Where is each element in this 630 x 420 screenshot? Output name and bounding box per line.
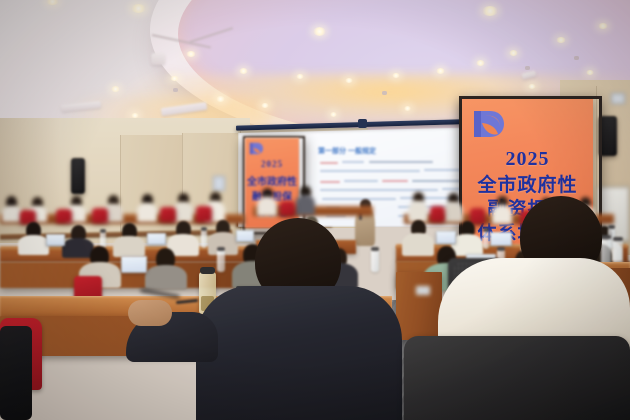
slide-text-line xyxy=(320,170,420,172)
downlight xyxy=(111,86,120,92)
laptop[interactable] xyxy=(46,234,65,246)
wall-sign-plate xyxy=(213,176,225,191)
slide-text-line xyxy=(382,180,408,182)
downlight xyxy=(436,68,445,74)
downlight xyxy=(313,27,326,36)
downlight xyxy=(392,73,400,78)
conference-room-photo: 第一部分 一般规定 2025 全市政府性 融资担保 体系培训班 xyxy=(0,0,630,420)
laptop[interactable] xyxy=(121,256,147,273)
attendee-body xyxy=(492,205,512,224)
downlight xyxy=(345,78,353,83)
water-bottle xyxy=(371,250,379,272)
downlight xyxy=(509,50,518,56)
downlight xyxy=(170,76,179,81)
downlight xyxy=(404,106,411,111)
attendee-body xyxy=(257,197,277,216)
downlight xyxy=(528,84,536,89)
slide-text-line xyxy=(344,180,378,182)
sprinkler-head xyxy=(173,88,178,92)
desk-front-panel xyxy=(396,272,442,340)
attendee-body xyxy=(18,235,49,255)
tea-jar-lid xyxy=(200,267,215,274)
laptop[interactable] xyxy=(490,232,512,246)
sprinkler-head xyxy=(574,56,579,60)
attendee-body xyxy=(295,195,315,215)
downlight xyxy=(131,4,146,13)
downlight xyxy=(330,112,337,117)
laptop[interactable] xyxy=(147,233,166,245)
audience-chair xyxy=(160,207,176,222)
slide-text-line xyxy=(320,189,438,191)
audience-chair xyxy=(196,206,212,222)
slide-text-line xyxy=(342,161,364,163)
attendee-body xyxy=(113,236,145,257)
foreground-attendee-left-body xyxy=(196,286,402,420)
water-bottle xyxy=(483,231,489,249)
blue-leaf-logo xyxy=(248,141,263,156)
audience-chair xyxy=(56,209,72,223)
slide-text-line xyxy=(320,162,338,164)
sprinkler-head xyxy=(382,91,387,95)
water-bottle xyxy=(217,250,225,272)
blue-leaf-logo xyxy=(470,107,504,141)
foreground-chair-right xyxy=(404,336,630,420)
wall-sign-plate xyxy=(611,93,625,104)
screen-mount xyxy=(358,119,367,128)
downlight xyxy=(216,96,225,102)
downlight xyxy=(476,60,485,66)
downlight xyxy=(586,70,594,75)
downlight xyxy=(482,6,498,16)
attendee-body xyxy=(145,265,187,290)
downlight xyxy=(239,68,248,74)
right-banner-line1: 全市政府性 xyxy=(462,170,593,197)
water-bottle xyxy=(201,230,207,248)
laptop[interactable] xyxy=(436,231,456,244)
ceiling-fixture xyxy=(151,53,165,65)
attendee-body xyxy=(2,206,22,222)
attendee-body xyxy=(408,201,428,222)
left-banner-year: 2025 xyxy=(245,159,299,169)
foreground-chair-left-back xyxy=(0,326,32,420)
audience-chair xyxy=(470,208,485,224)
wall-speaker-icon xyxy=(71,158,85,194)
laptop[interactable] xyxy=(236,230,254,242)
right-banner-year: 2025 xyxy=(462,148,593,171)
audience-chair xyxy=(280,201,295,216)
downlight xyxy=(261,103,269,108)
attendee-body xyxy=(402,233,434,256)
foreground-attendee-left-hand xyxy=(128,300,172,326)
attendee-body xyxy=(443,202,463,222)
downlight xyxy=(296,74,304,79)
desk-label-plate xyxy=(416,286,430,295)
slide-heading: 第一部分 一般规定 xyxy=(318,146,376,156)
audience-chair xyxy=(92,208,108,223)
slide-text-line xyxy=(369,161,433,163)
sprinkler-head xyxy=(525,66,530,70)
audience-chair xyxy=(430,206,445,222)
attendee-body xyxy=(173,202,193,222)
downlight xyxy=(186,51,196,57)
slide-text-line xyxy=(320,181,340,183)
slide-text-line xyxy=(322,198,396,200)
attendee-body xyxy=(137,203,157,222)
downlight xyxy=(598,23,608,29)
left-banner-line1: 全市政府性 xyxy=(245,173,299,188)
downlight xyxy=(556,37,566,43)
